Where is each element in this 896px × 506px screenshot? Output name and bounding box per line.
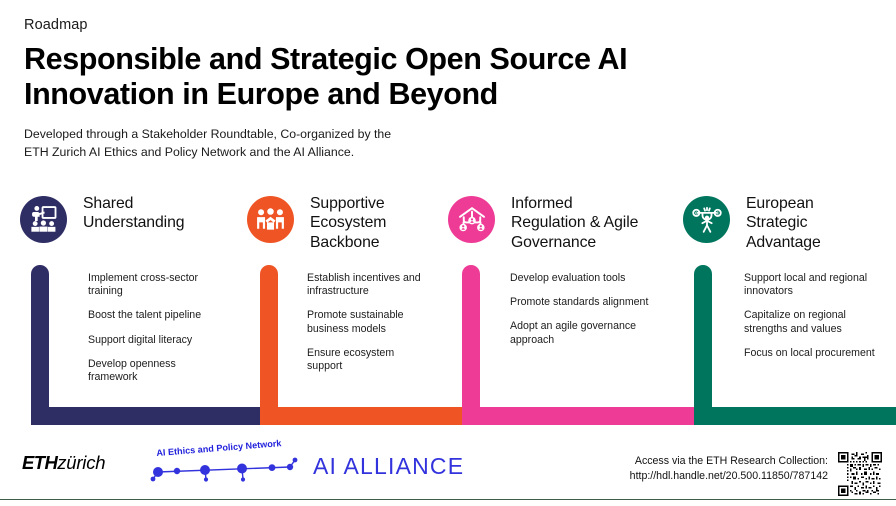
pillar-title-4: European Strategic Advantage <box>746 194 821 252</box>
qr-code[interactable] <box>838 452 882 496</box>
pillar-header-4: € € European Strategic Advantage <box>683 196 883 264</box>
connector-foot-4 <box>694 407 896 425</box>
bullet-item: Ensure ecosystem support <box>307 347 457 373</box>
bullet-item: Support digital literacy <box>88 334 240 347</box>
bullet-item: Capitalize on regional strengths and val… <box>744 309 896 335</box>
bullet-item: Implement cross-sector training <box>88 272 240 298</box>
footer-divider <box>0 499 896 500</box>
weightlifter-euro-icon: € € <box>683 196 730 243</box>
governance-network-icon <box>448 196 495 243</box>
connector-stem-3 <box>462 265 480 425</box>
connector-foot-2 <box>260 407 482 425</box>
pillars-timeline: Shared Understanding Implement cross-sec… <box>0 0 896 506</box>
pillar-supportive-ecosystem-backbone: Supportive Ecosystem Backbone Establish … <box>247 196 457 264</box>
eth-logo-bold: ETH <box>22 452 57 473</box>
bullet-item: Promote sustainable business models <box>307 309 457 335</box>
roadmap-infographic: Roadmap Responsible and Strategic Open S… <box>0 0 896 506</box>
pillar-shared-understanding: Shared Understanding Implement cross-sec… <box>20 196 235 264</box>
pillar-header-3: Informed Regulation & Agile Governance <box>448 196 678 264</box>
connector-stem-4 <box>694 265 712 425</box>
ai-alliance-logo: AI ALLIANCE <box>313 453 464 480</box>
bullet-item: Focus on local procurement <box>744 347 896 360</box>
pillar-informed-regulation-agile-governance: Informed Regulation & Agile Governance D… <box>448 196 678 264</box>
pillar-header-1: Shared Understanding <box>20 196 235 264</box>
three-people-handshake-icon <box>247 196 294 243</box>
presenter-audience-icon <box>20 196 67 243</box>
pillar-bullets-4: Support local and regional innovators Ca… <box>744 272 896 371</box>
connector-foot-1 <box>31 407 281 425</box>
bullet-item: Adopt an agile governance approach <box>510 320 680 346</box>
connector-stem-2 <box>260 265 278 425</box>
connector-foot-3 <box>462 407 702 425</box>
eth-zurich-logo: ETHzürich <box>22 452 105 474</box>
bullet-item: Develop openness framework <box>88 358 240 384</box>
bullet-item: Establish incentives and infrastructure <box>307 272 457 298</box>
eth-logo-light: zürich <box>57 452 105 473</box>
access-line-2: http://hdl.handle.net/20.500.11850/78714… <box>630 469 828 484</box>
bullet-item: Boost the talent pipeline <box>88 309 240 322</box>
pillar-bullets-3: Develop evaluation tools Promote standar… <box>510 272 680 358</box>
bullet-item: Develop evaluation tools <box>510 272 680 285</box>
footer: ETHzürich AI Ethics and Policy Network <box>0 444 896 506</box>
pillar-header-2: Supportive Ecosystem Backbone <box>247 196 457 264</box>
access-line-1: Access via the ETH Research Collection: <box>630 454 828 469</box>
connector-stem-1 <box>31 265 49 425</box>
access-info: Access via the ETH Research Collection: … <box>630 454 828 483</box>
pillar-title-2: Supportive Ecosystem Backbone <box>310 194 386 252</box>
pillar-bullets-2: Establish incentives and infrastructure … <box>307 272 457 384</box>
ai-ethics-policy-network-logo: AI Ethics and Policy Network <box>150 448 300 486</box>
pillar-european-strategic-advantage: € € European Strategic Advantage Support… <box>683 196 883 264</box>
pillar-title-3: Informed Regulation & Agile Governance <box>511 194 638 252</box>
pillar-bullets-1: Implement cross-sector training Boost th… <box>88 272 240 395</box>
pillar-title-1: Shared Understanding <box>83 194 184 233</box>
bullet-item: Support local and regional innovators <box>744 272 896 298</box>
bullet-item: Promote standards alignment <box>510 296 680 309</box>
